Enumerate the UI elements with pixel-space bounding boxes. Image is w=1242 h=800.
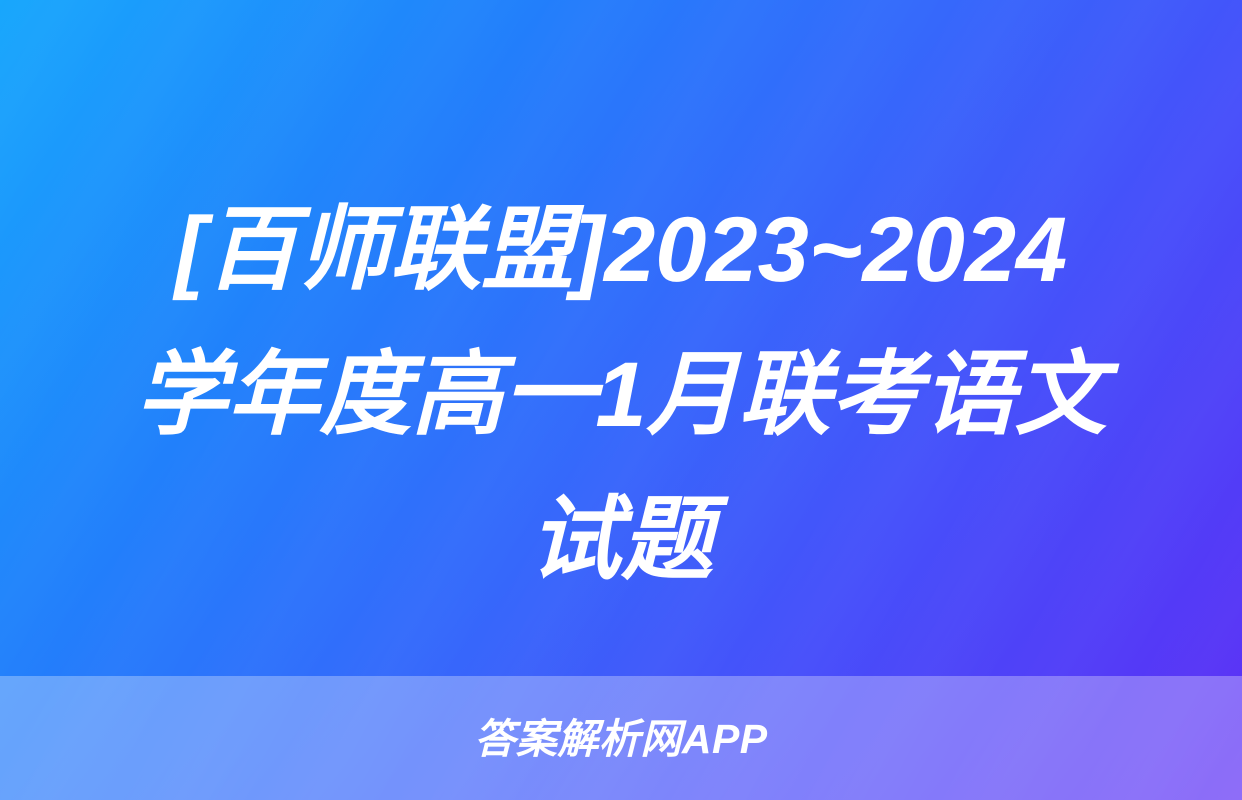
title-line-1: [百师联盟]2023~2024: [28, 178, 1214, 323]
page-title: [百师联盟]2023~2024 学年度高一1月联考语文 试题: [0, 178, 1242, 613]
app-watermark-label: 答案解析网APP: [474, 719, 767, 760]
footer-watermark-band: 答案解析网APP: [0, 676, 1242, 800]
title-line-3: 试题: [28, 468, 1214, 613]
title-line-2: 学年度高一1月联考语文: [28, 323, 1214, 468]
exam-paper-cover-poster: [百师联盟]2023~2024 学年度高一1月联考语文 试题 答案解析网APP: [0, 0, 1242, 800]
